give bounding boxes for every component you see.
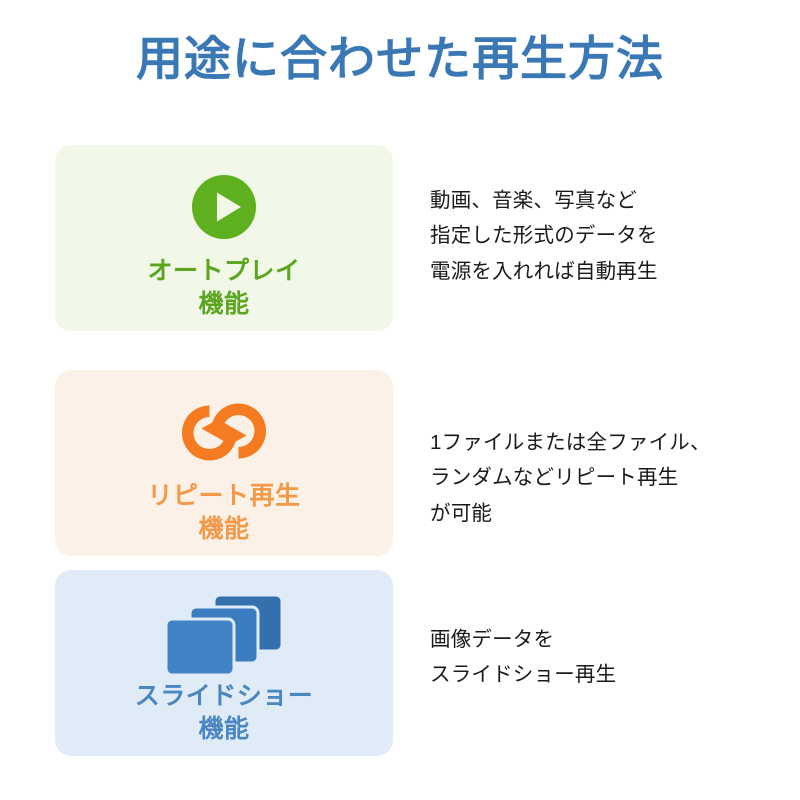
- infographic-page: 用途に合わせた再生方法 オートプレイ 機能 動画、音楽、写真など 指定した形式の…: [0, 0, 800, 800]
- feature-row-autoplay: オートプレイ 機能 動画、音楽、写真など 指定した形式のデータを 電源を入れれば…: [0, 145, 800, 333]
- feature-description-autoplay: 動画、音楽、写真など 指定した形式のデータを 電源を入れれば自動再生: [430, 183, 760, 289]
- feature-card-autoplay: オートプレイ 機能: [55, 145, 393, 331]
- feature-description-repeat: 1ファイルまたは全ファイル、 ランダムなどリピート再生 が可能: [430, 425, 760, 531]
- feature-card-label-slideshow: スライドショー 機能: [135, 680, 314, 746]
- feature-card-label-repeat: リピート再生 機能: [147, 480, 300, 546]
- feature-description-slideshow: 画像データを スライドショー再生: [430, 622, 760, 693]
- feature-row-slideshow: スライドショー 機能 画像データを スライドショー再生: [0, 570, 800, 758]
- page-title: 用途に合わせた再生方法: [0, 33, 800, 85]
- icon-container-repeat: [176, 384, 272, 480]
- icon-container-autoplay: [188, 159, 260, 255]
- feature-card-repeat: リピート再生 機能: [55, 370, 393, 556]
- play-circle-icon: [188, 171, 260, 243]
- feature-card-slideshow: スライドショー 機能: [55, 570, 393, 756]
- feature-row-repeat: リピート再生 機能 1ファイルまたは全ファイル、 ランダムなどリピート再生 が可…: [0, 370, 800, 558]
- stacked-slides-icon: [160, 589, 288, 675]
- icon-container-slideshow: [160, 584, 288, 680]
- feature-card-label-autoplay: オートプレイ 機能: [147, 255, 300, 321]
- repeat-arrows-icon: [176, 392, 272, 472]
